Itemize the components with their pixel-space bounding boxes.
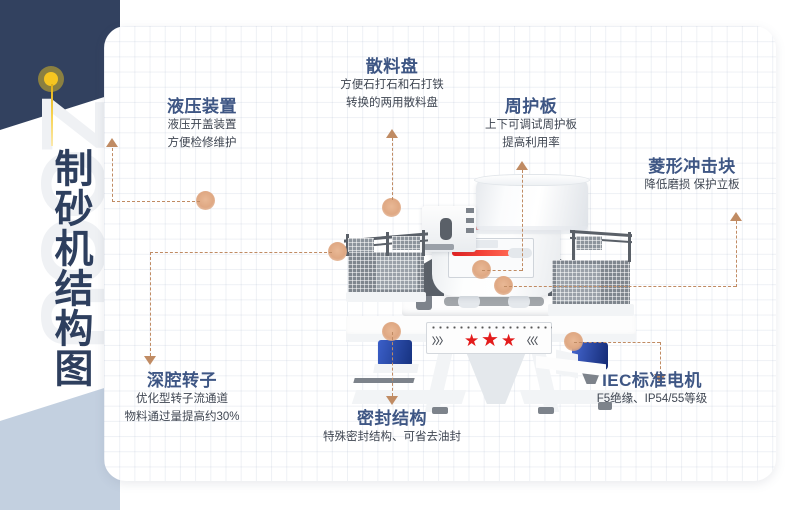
callout-line-2: 提高利用率	[452, 135, 610, 153]
callout-guard-plate: 周护板 上下可调试周护板 提高利用率	[452, 92, 610, 153]
callout-title: 菱形冲击块	[612, 152, 772, 177]
page-title: 制砂机结构图	[28, 148, 90, 388]
callout-iec-motor: IEC标准电机 F5绝缘、IP54/55等级	[552, 366, 752, 409]
connector-guard-h	[482, 270, 522, 271]
callout-title: 散料盘	[302, 52, 482, 77]
callout-line-1: 优化型转子流通道	[104, 391, 282, 409]
callout-line-1: 特殊密封结构、可省去油封	[292, 429, 492, 447]
connector-impact-v	[736, 221, 737, 287]
callout-title: 深腔转子	[104, 366, 282, 391]
connector-hydraulic	[112, 201, 200, 202]
connector-sealing	[392, 332, 393, 396]
star-2: ★	[481, 330, 499, 350]
chevrons-left: 〉〉〉	[432, 334, 447, 347]
connector-iec-h	[574, 342, 660, 343]
infographic-canvas: ZOOU 制砂机结构图 〉〉〉 ★ ★ ★ 〈〈〈	[0, 0, 800, 510]
callout-line-2: 物料通过量提高约30%	[104, 409, 282, 427]
pin-stem	[51, 84, 54, 146]
arrow-distributor	[386, 129, 398, 138]
callout-hydraulic-device: 液压装置 液压开盖装置 方便检修维护	[122, 92, 282, 153]
callout-line-1: 液压开盖装置	[122, 117, 282, 135]
callout-title: 密封结构	[292, 404, 492, 429]
star-3: ★	[501, 332, 516, 349]
diagram-card: 〉〉〉 ★ ★ ★ 〈〈〈	[104, 26, 776, 481]
callout-line-1: F5绝缘、IP54/55等级	[552, 391, 752, 409]
connector-distributor	[392, 138, 393, 200]
callout-title: 液压装置	[122, 92, 282, 117]
arrow-impact-block	[730, 212, 742, 221]
connector-rotor-h	[150, 252, 332, 253]
connector-impact-h	[504, 286, 736, 287]
callout-title: 周护板	[452, 92, 610, 117]
callout-line-1: 降低磨损 保护立板	[612, 177, 772, 195]
connector-hydraulic-riser	[112, 148, 113, 202]
callout-title: IEC标准电机	[552, 366, 752, 391]
callout-deep-cavity-rotor: 深腔转子 优化型转子流通道 物料通过量提高约30%	[104, 366, 282, 427]
chevrons-right: 〈〈〈	[522, 334, 537, 347]
connector-guard-v	[522, 170, 523, 271]
connector-rotor-v	[150, 252, 151, 356]
hotspot-feed-distributor[interactable]	[382, 198, 401, 217]
callout-line-1: 上下可调试周护板	[452, 117, 610, 135]
left-decor-panel: ZOOU 制砂机结构图	[0, 0, 120, 510]
callout-impact-block: 菱形冲击块 降低磨损 保护立板	[612, 152, 772, 195]
arrow-rotor	[144, 356, 156, 365]
arrow-guard-plate	[516, 161, 528, 170]
callout-sealing-structure: 密封结构 特殊密封结构、可省去油封	[292, 404, 492, 447]
star-1: ★	[464, 332, 479, 349]
callout-line-2: 方便检修维护	[122, 135, 282, 153]
arrow-hydraulic	[106, 138, 118, 147]
